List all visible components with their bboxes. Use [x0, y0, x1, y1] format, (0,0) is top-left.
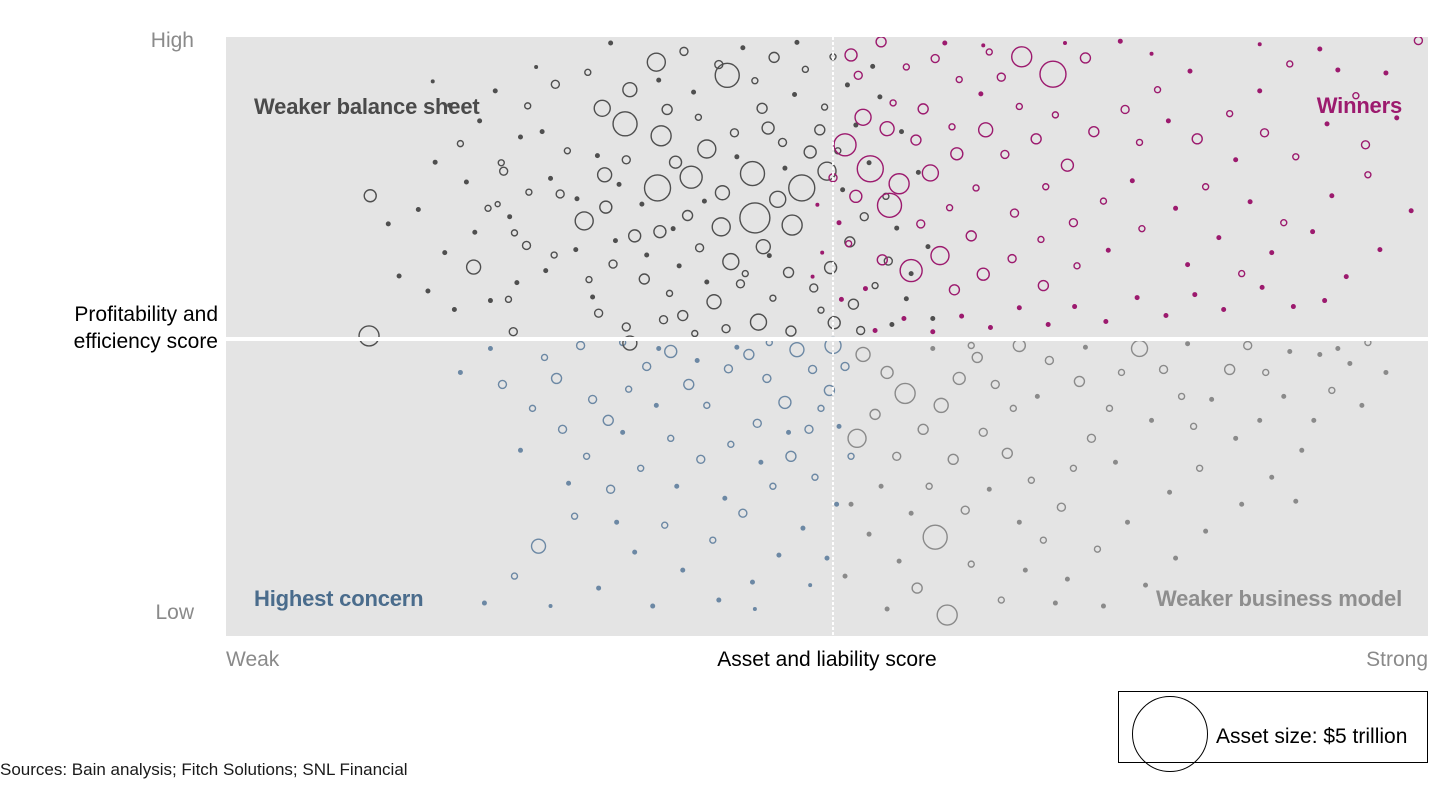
bubble	[848, 429, 866, 447]
bubble	[1118, 369, 1124, 375]
bubble	[622, 156, 630, 164]
bubble	[841, 362, 849, 370]
bubble	[1263, 369, 1269, 375]
bubble	[1330, 194, 1334, 198]
bubble	[1045, 356, 1053, 364]
bubble	[498, 380, 506, 388]
bubble	[903, 64, 909, 70]
bubble	[1291, 305, 1295, 309]
bubble	[1061, 159, 1073, 171]
bubble	[567, 481, 571, 485]
bubble	[643, 362, 651, 370]
bubble	[979, 92, 983, 96]
bubble	[1336, 346, 1340, 350]
bubble	[639, 274, 649, 284]
bubble	[960, 314, 964, 318]
bubble	[518, 135, 522, 139]
bubble	[559, 425, 567, 433]
bubble	[662, 104, 672, 114]
bubble	[757, 103, 767, 113]
y-axis-tick-high: High	[151, 29, 194, 53]
bubble	[613, 112, 637, 136]
bubble	[834, 134, 856, 156]
bubble	[1137, 139, 1143, 145]
bubble-group-highest-concern	[458, 337, 854, 610]
bubble	[1057, 503, 1065, 511]
bubble	[1074, 263, 1080, 269]
bubble	[1222, 308, 1226, 312]
bubble	[702, 199, 706, 203]
bubble	[1217, 236, 1221, 240]
bubble	[532, 539, 546, 553]
bubble	[753, 419, 761, 427]
bubble	[779, 138, 787, 146]
bubble	[607, 485, 615, 493]
bubble	[801, 526, 805, 530]
bubble	[1118, 39, 1122, 43]
bubble	[1053, 601, 1057, 605]
bubble	[1135, 296, 1139, 300]
bubble	[617, 182, 621, 186]
bubble	[549, 176, 553, 180]
bubble	[1281, 220, 1287, 226]
bubble	[1193, 293, 1197, 297]
bubble	[551, 252, 557, 258]
bubble	[1378, 248, 1382, 252]
bubble	[556, 190, 564, 198]
bubble	[1336, 68, 1340, 72]
bubble	[897, 559, 901, 563]
bubble	[1094, 546, 1100, 552]
bubble	[1038, 236, 1044, 242]
bubble	[705, 280, 709, 284]
bubble	[1031, 134, 1041, 144]
bubble	[1362, 141, 1370, 149]
bubble	[1179, 393, 1185, 399]
bubble	[1384, 370, 1388, 374]
bubble	[878, 95, 882, 99]
bubble	[979, 123, 993, 137]
bubble	[951, 148, 963, 160]
bubble	[1414, 37, 1422, 45]
bubble	[1132, 340, 1148, 356]
bubble	[816, 203, 819, 206]
bubble	[979, 428, 987, 436]
bubble	[770, 295, 776, 301]
bubble	[1104, 320, 1108, 324]
bubble	[1070, 465, 1076, 471]
bubble	[586, 277, 592, 283]
bubble	[1270, 251, 1274, 255]
bubble	[526, 189, 532, 195]
bubble	[879, 484, 883, 488]
bubble	[523, 241, 531, 249]
bubble	[736, 280, 744, 288]
bubble	[695, 358, 699, 362]
bubble	[1166, 119, 1170, 123]
bubble	[802, 66, 808, 72]
bubble	[770, 191, 786, 207]
bubble	[790, 343, 804, 357]
bubble	[1234, 436, 1238, 440]
bubble	[1012, 47, 1032, 67]
bubble	[867, 532, 871, 536]
bubble	[1065, 577, 1069, 581]
bubble	[795, 40, 799, 44]
bubble	[912, 583, 922, 593]
bubble	[885, 607, 889, 611]
bubble	[762, 122, 774, 134]
bubble	[511, 573, 517, 579]
bubble	[837, 424, 841, 428]
bubble	[640, 202, 644, 206]
bubble	[956, 77, 962, 83]
bubble	[835, 502, 839, 506]
bubble	[916, 170, 920, 174]
bubble	[779, 396, 791, 408]
bubble	[464, 180, 468, 184]
bubble	[986, 49, 992, 55]
bubble	[1348, 361, 1352, 365]
bubble	[530, 405, 536, 411]
bubble	[712, 218, 730, 236]
bubble	[1384, 71, 1388, 75]
bubble	[671, 227, 675, 231]
bubble	[805, 425, 813, 433]
bubble	[998, 597, 1004, 603]
bubble	[1046, 323, 1050, 327]
bubble	[909, 511, 913, 515]
bubble	[723, 254, 739, 270]
bubble	[740, 162, 764, 186]
bubble	[657, 346, 661, 350]
bubble	[1168, 490, 1172, 494]
bubble	[756, 240, 770, 254]
bubble	[692, 90, 696, 94]
bubble	[431, 80, 434, 83]
bubble-group-weaker-balance-sheet	[359, 40, 935, 350]
bubble	[1040, 537, 1046, 543]
bubble	[715, 63, 739, 87]
bubble	[740, 203, 770, 233]
bubble	[934, 398, 948, 412]
bubble	[629, 230, 641, 242]
bubble	[500, 167, 508, 175]
bubble	[1080, 53, 1090, 63]
legend-size-label: Asset size: $5 trillion	[1216, 725, 1407, 749]
bubble	[1197, 465, 1203, 471]
bubble	[988, 326, 992, 330]
bubble	[707, 295, 721, 309]
bubble	[753, 608, 756, 611]
bubble	[416, 208, 420, 212]
bubble	[926, 245, 930, 249]
bubble	[574, 248, 578, 252]
bubble	[750, 314, 766, 330]
y-axis-title-line-2: efficiency score	[18, 328, 218, 355]
bubble	[1318, 352, 1322, 356]
bubble	[857, 156, 883, 182]
bubble	[923, 525, 947, 549]
bubble	[544, 269, 548, 273]
bubble	[872, 283, 878, 289]
bubble	[893, 452, 901, 460]
bubble	[900, 130, 904, 134]
bubble	[715, 186, 729, 200]
bubble	[943, 41, 947, 45]
bubble	[488, 299, 492, 303]
bubble	[1001, 150, 1009, 158]
bubble	[793, 93, 797, 97]
bubble	[1002, 448, 1012, 458]
bubble	[818, 405, 824, 411]
bubble	[1261, 129, 1269, 137]
bubble	[1155, 87, 1161, 93]
bubble	[876, 37, 886, 47]
bubble	[845, 49, 857, 61]
bubble	[949, 285, 959, 295]
bubble	[904, 297, 908, 301]
bubble	[931, 346, 935, 350]
bubble	[485, 205, 491, 211]
bubble	[843, 574, 847, 578]
chart-canvas: High Low Profitability and efficiency sc…	[0, 0, 1440, 810]
bubble	[822, 104, 828, 110]
bubble	[668, 435, 674, 441]
bubble	[1017, 520, 1021, 524]
bubble	[589, 395, 597, 403]
bubble	[895, 383, 915, 403]
bubble	[505, 296, 511, 302]
bubble	[598, 168, 612, 182]
bubble	[498, 160, 504, 166]
bubble	[810, 284, 818, 292]
bubble	[871, 64, 875, 68]
bubble	[645, 175, 671, 201]
bubble	[1160, 365, 1168, 373]
bubble	[1311, 230, 1315, 234]
bubble	[931, 330, 935, 334]
bubble	[1010, 405, 1016, 411]
bubble	[493, 89, 497, 93]
bubble	[1360, 403, 1364, 407]
bubble	[948, 454, 958, 464]
bubble	[846, 241, 852, 247]
bubble	[508, 215, 512, 219]
bubble	[931, 55, 939, 63]
bubble	[647, 53, 665, 71]
bubble	[848, 453, 854, 459]
bubble	[786, 326, 796, 336]
bubble	[473, 230, 477, 234]
bubble	[786, 451, 796, 461]
bubble	[973, 185, 979, 191]
bubble	[860, 213, 868, 221]
bubble	[1106, 248, 1110, 252]
quadrant-divider-horizontal	[226, 337, 1428, 341]
bubble	[752, 78, 758, 84]
bubble	[931, 317, 935, 321]
bubble	[742, 271, 748, 277]
bubble	[397, 274, 401, 278]
bubble	[854, 71, 862, 79]
bubble	[645, 253, 649, 257]
bubble	[638, 465, 644, 471]
bubble	[540, 130, 544, 134]
bubble	[1225, 364, 1235, 374]
bubble	[1186, 342, 1190, 346]
bubble	[1365, 172, 1371, 178]
bubble	[1293, 154, 1299, 160]
bubble	[1101, 604, 1105, 608]
bubble	[710, 537, 716, 543]
bubble	[609, 260, 617, 268]
bubble	[1174, 556, 1178, 560]
bubble	[509, 328, 517, 336]
bubble	[1318, 47, 1322, 51]
bubble	[900, 260, 922, 282]
bubble	[651, 604, 655, 608]
bubble	[575, 197, 579, 201]
bubble	[551, 80, 559, 88]
bubble	[856, 347, 870, 361]
bubble	[595, 309, 603, 317]
bubble	[677, 264, 681, 268]
bubble	[1074, 376, 1084, 386]
bubble	[457, 141, 463, 147]
bubble	[488, 346, 492, 350]
bubble	[837, 221, 841, 225]
bubble	[953, 372, 965, 384]
bubble-group-winners	[811, 37, 1422, 334]
bubble	[1150, 418, 1154, 422]
bubble	[787, 430, 791, 434]
bubble	[591, 295, 595, 299]
bubble	[845, 83, 849, 87]
bubble	[615, 520, 619, 524]
bubble	[918, 424, 928, 434]
bubble	[1017, 306, 1021, 310]
bubble	[782, 215, 802, 235]
bubble	[1150, 52, 1153, 55]
bubble	[1288, 349, 1292, 353]
bubble	[863, 287, 867, 291]
bubble	[670, 156, 682, 168]
bubble	[968, 561, 974, 567]
bubble	[839, 297, 843, 301]
bubble	[1258, 89, 1262, 93]
bubble	[867, 161, 871, 165]
bubble	[1258, 43, 1261, 46]
bubble	[1258, 418, 1262, 422]
bubble	[433, 160, 437, 164]
bubble	[1144, 583, 1148, 587]
bubble	[495, 202, 500, 207]
bubble	[1227, 111, 1233, 117]
bubble	[1248, 200, 1252, 204]
bubble	[633, 550, 637, 554]
bubble	[890, 323, 894, 327]
bubble	[881, 366, 893, 378]
bubble	[804, 146, 816, 158]
bubble	[1073, 305, 1077, 309]
bubble	[982, 44, 985, 47]
bubble	[987, 487, 991, 491]
bubble	[542, 354, 548, 360]
bubble	[723, 496, 727, 500]
bubble	[595, 154, 599, 158]
bubble	[482, 601, 486, 605]
bubble	[809, 584, 812, 587]
bubble	[1300, 448, 1304, 452]
bubble	[828, 317, 840, 329]
bubble	[841, 188, 845, 192]
bubble	[825, 262, 837, 274]
bubble	[515, 281, 519, 285]
bubble	[763, 374, 771, 382]
quadrant-label-weaker-business-model: Weaker business model	[1156, 586, 1402, 612]
y-axis-tick-low: Low	[155, 601, 194, 625]
bubble	[947, 205, 953, 211]
bubble	[728, 441, 734, 447]
bubble	[977, 268, 989, 280]
bubble	[572, 513, 578, 519]
bubble	[680, 166, 702, 188]
bubble	[849, 502, 853, 506]
bubble	[623, 83, 637, 97]
bubble	[594, 100, 610, 116]
bubble	[848, 299, 858, 309]
bubble	[1191, 423, 1197, 429]
bubble	[704, 402, 710, 408]
bubble	[600, 201, 612, 213]
bubble	[889, 174, 909, 194]
bubble	[961, 506, 969, 514]
bubble	[735, 345, 739, 349]
bubble	[997, 73, 1005, 81]
bubble	[613, 239, 617, 243]
bubble	[603, 415, 613, 425]
bubble	[683, 211, 693, 221]
bubble	[902, 317, 906, 321]
bubble	[880, 122, 894, 136]
bubble	[1325, 122, 1329, 126]
bubble	[518, 448, 522, 452]
bubble	[1186, 263, 1190, 267]
bubble	[654, 403, 658, 407]
bubble	[1344, 275, 1348, 279]
bubble	[1106, 405, 1112, 411]
bubble	[759, 460, 763, 464]
bubble	[1204, 529, 1208, 533]
bubble	[873, 329, 877, 333]
bubble	[909, 272, 913, 276]
bubble	[735, 155, 739, 159]
bubble	[662, 522, 668, 528]
bubble	[1016, 103, 1022, 109]
bubble	[870, 409, 880, 419]
bubble	[695, 114, 701, 120]
bubble	[1069, 219, 1077, 227]
bubble	[1100, 198, 1106, 204]
bubble	[452, 308, 456, 312]
bubble	[1139, 226, 1145, 232]
bubble	[1121, 105, 1129, 113]
bubble	[1089, 127, 1099, 137]
bubble	[575, 212, 593, 230]
bubble	[549, 605, 552, 608]
bubble	[890, 100, 896, 106]
